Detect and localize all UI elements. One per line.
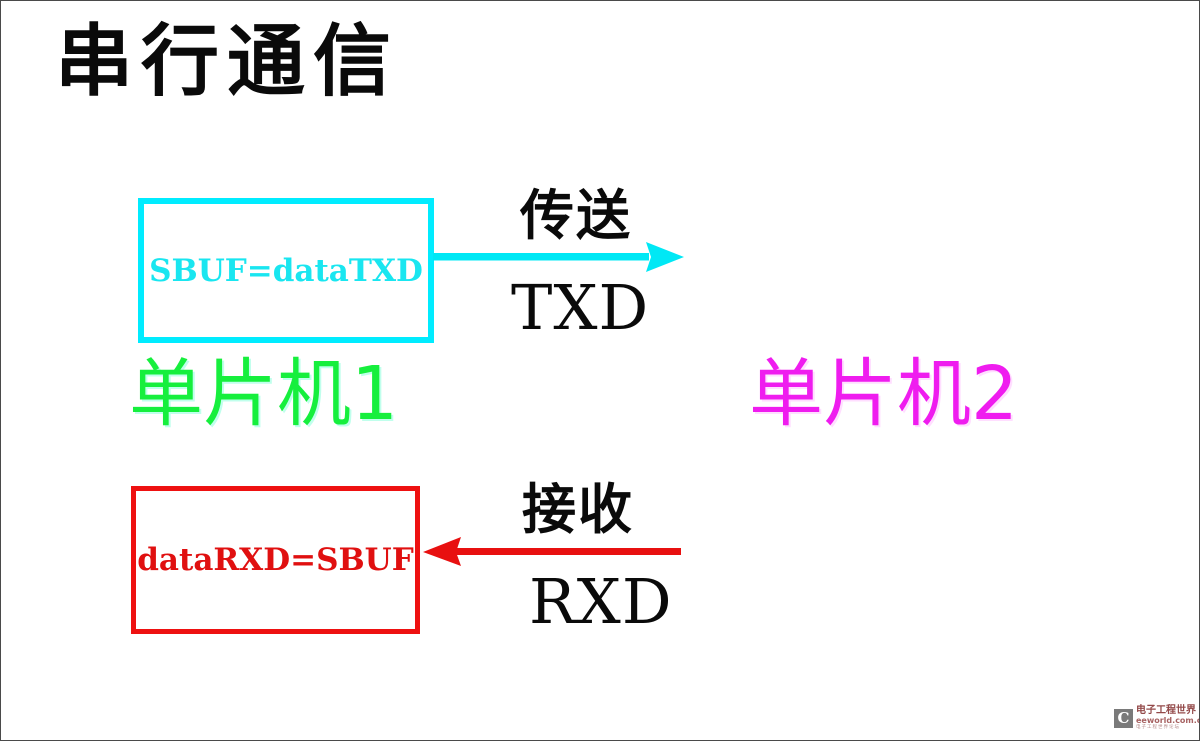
page-title: 串行通信 bbox=[55, 23, 399, 101]
arrow-receive-icon bbox=[423, 537, 681, 566]
register-box-rxd: dataRXD=SBUF bbox=[131, 486, 420, 634]
register-label-txd: SBUF=dataTXD bbox=[149, 253, 423, 289]
register-box-txd: SBUF=dataTXD bbox=[138, 198, 434, 343]
channel-label-transmit-en: TXD bbox=[511, 277, 649, 339]
channel-label-receive-en: RXD bbox=[529, 571, 673, 633]
watermark-sub-text: 电子工程世界论坛 bbox=[1136, 725, 1200, 731]
register-label-rxd: dataRXD=SBUF bbox=[137, 542, 413, 578]
watermark-url-text: eeworld.com.cn bbox=[1136, 716, 1200, 725]
watermark: C 电子工程世界 eeworld.com.cn 电子工程世界论坛 bbox=[1114, 702, 1192, 734]
diagram-canvas: 串行通信 SBUF=dataTXD dataRXD=SBUF 单片机1 单片机2… bbox=[0, 0, 1200, 741]
channel-label-receive-cn: 接收 bbox=[522, 483, 634, 537]
device-name-mcu2: 单片机2 bbox=[749, 357, 1018, 431]
channel-label-transmit-cn: 传送 bbox=[520, 189, 632, 243]
watermark-cn-text: 电子工程世界 bbox=[1136, 705, 1200, 716]
watermark-text: 电子工程世界 eeworld.com.cn 电子工程世界论坛 bbox=[1136, 705, 1200, 731]
watermark-logo-icon: C bbox=[1114, 709, 1133, 728]
device-name-mcu1: 单片机1 bbox=[129, 357, 398, 431]
